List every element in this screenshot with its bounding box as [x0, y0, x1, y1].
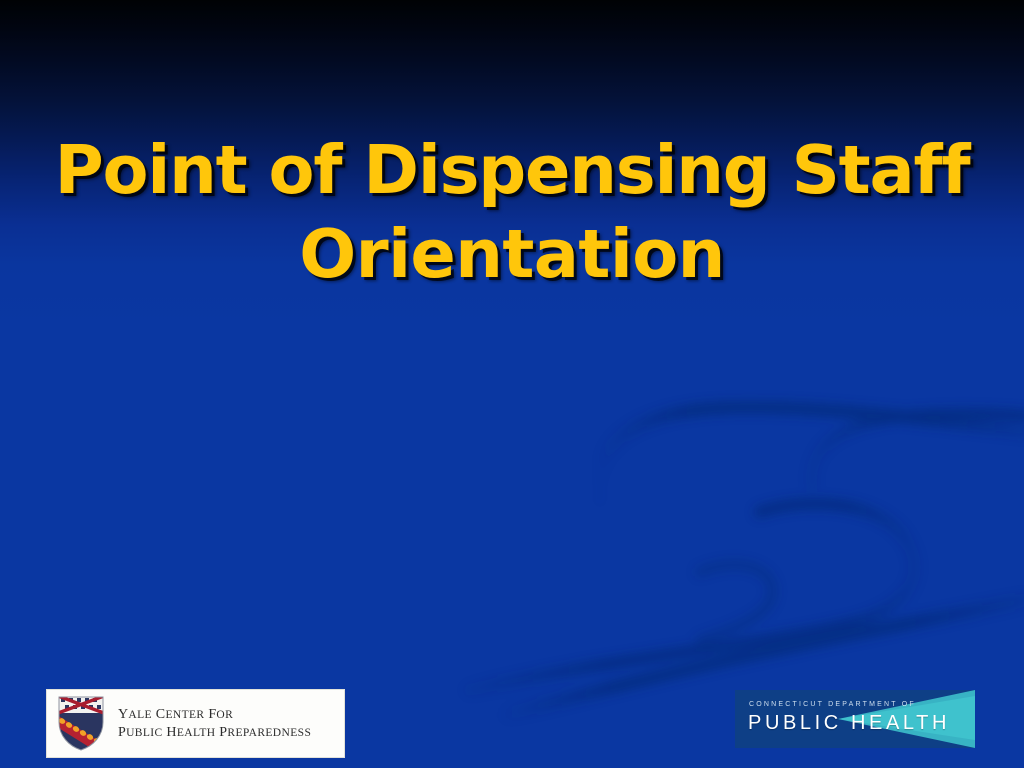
yale-wordmark-line-1: YALE CENTER FOR: [118, 706, 311, 724]
slide-title: Point of Dispensing Staff Orientation: [0, 128, 1024, 296]
ct-dph-logo: CONNECTICUT DEPARTMENT OF PUBLIC HEALTH: [735, 690, 975, 748]
dph-main-text: PUBLIC HEALTH: [748, 712, 950, 735]
yale-wordmark-line-1-text: YALE CENTER FOR: [118, 707, 233, 722]
dph-text-block: CONNECTICUT DEPARTMENT OF PUBLIC HEALTH: [735, 690, 975, 748]
yale-wordmark-line-2: PUBLIC HEALTH PREPAREDNESS: [118, 724, 311, 742]
yale-cphp-logo: YALE CENTER FOR PUBLIC HEALTH PREPAREDNE…: [46, 689, 345, 758]
presentation-slide: Point of Dispensing Staff Orientation: [0, 0, 1024, 768]
dph-eyebrow-text: CONNECTICUT DEPARTMENT OF: [749, 701, 916, 708]
yale-wordmark-line-2-text: PUBLIC HEALTH PREPAREDNESS: [118, 725, 311, 740]
slide-title-line-1: Point of Dispensing Staff: [0, 128, 1024, 212]
slide-title-line-2: Orientation: [0, 212, 1024, 296]
yale-wordmark: YALE CENTER FOR PUBLIC HEALTH PREPAREDNE…: [118, 706, 311, 742]
slide-background-gradient: [0, 0, 1024, 768]
yale-shield-icon: [57, 695, 105, 752]
